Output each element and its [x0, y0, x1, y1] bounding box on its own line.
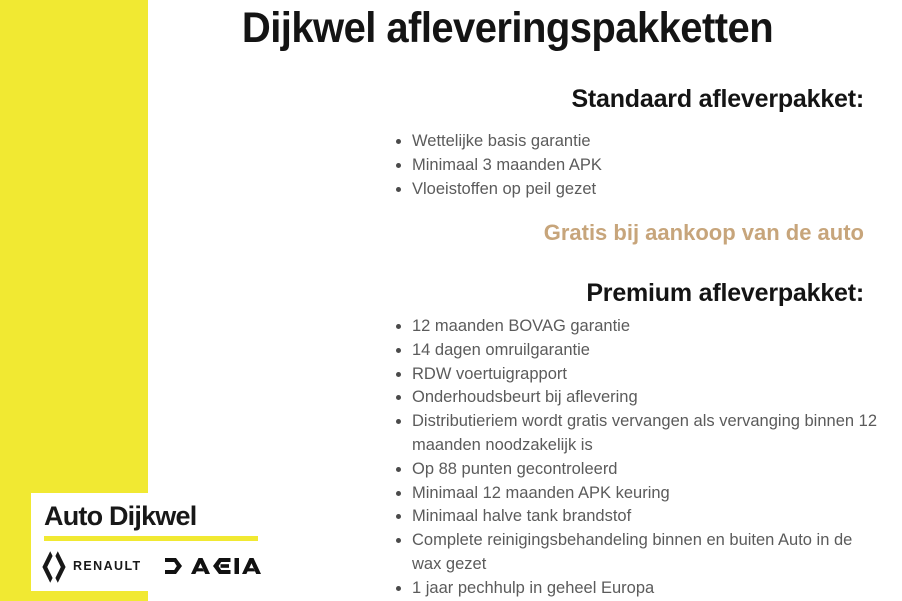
logo-divider	[44, 536, 258, 541]
list-item: Distributieriem wordt gratis vervangen a…	[412, 410, 882, 458]
standard-package-list: Wettelijke basis garantie Minimaal 3 maa…	[390, 130, 882, 201]
list-item-label: 12 maanden BOVAG garantie	[412, 317, 630, 335]
free-with-purchase-note: Gratis bij aankoop van de auto	[544, 219, 864, 247]
list-item-label: Vloeistoffen op peil gezet	[412, 180, 596, 198]
list-item-label: Minimaal 3 maanden APK	[412, 156, 602, 174]
list-item: Vloeistoffen op peil gezet	[412, 178, 882, 202]
list-item-label: RDW voertuigrapport	[412, 365, 567, 383]
renault-diamond-icon	[41, 550, 67, 584]
list-item-label: Onderhoudsbeurt bij aflevering	[412, 388, 638, 406]
list-item: Op 88 punten gecontroleerd	[412, 458, 882, 482]
list-item-label: Wettelijke basis garantie	[412, 132, 591, 150]
list-item-label: Complete reinigingsbehandeling binnen en…	[412, 531, 852, 573]
dealer-name-wordmark: Auto Dijkwel	[44, 500, 196, 532]
list-item: 1 jaar pechhulp in geheel Europa	[412, 577, 882, 601]
list-item-label: Op 88 punten gecontroleerd	[412, 460, 618, 478]
list-item: Complete reinigingsbehandeling binnen en…	[412, 529, 882, 577]
list-item-label: Distributieriem wordt gratis vervangen a…	[412, 412, 877, 454]
renault-wordmark: RENAULT	[73, 559, 142, 573]
standard-package-heading: Standaard afleverpakket:	[571, 84, 864, 114]
page-title: Dijkwel afleveringspakketten	[175, 2, 840, 54]
list-item-label: 1 jaar pechhulp in geheel Europa	[412, 579, 654, 597]
premium-package-heading: Premium afleverpakket:	[586, 278, 864, 308]
flyer-page: Dijkwel afleveringspakketten Standaard a…	[0, 0, 902, 601]
brand-row: RENAULT	[39, 549, 259, 585]
list-item: Wettelijke basis garantie	[412, 130, 882, 154]
list-item-label: 14 dagen omruilgarantie	[412, 341, 590, 359]
premium-package-list: 12 maanden BOVAG garantie 14 dagen omrui…	[390, 315, 882, 601]
list-item: 14 dagen omruilgarantie	[412, 339, 882, 363]
list-item: Minimaal halve tank brandstof	[412, 505, 882, 529]
list-item: Minimaal 3 maanden APK	[412, 154, 882, 178]
list-item: Onderhoudsbeurt bij aflevering	[412, 386, 882, 410]
list-item: 12 maanden BOVAG garantie	[412, 315, 882, 339]
list-item-label: Minimaal halve tank brandstof	[412, 507, 631, 525]
list-item: Minimaal 12 maanden APK keuring	[412, 482, 882, 506]
list-item-label: Minimaal 12 maanden APK keuring	[412, 484, 670, 502]
dacia-wordmark-icon	[165, 557, 261, 575]
list-item: RDW voertuigrapport	[412, 363, 882, 387]
dealer-logo-card: Auto Dijkwel RENAULT	[31, 493, 259, 591]
